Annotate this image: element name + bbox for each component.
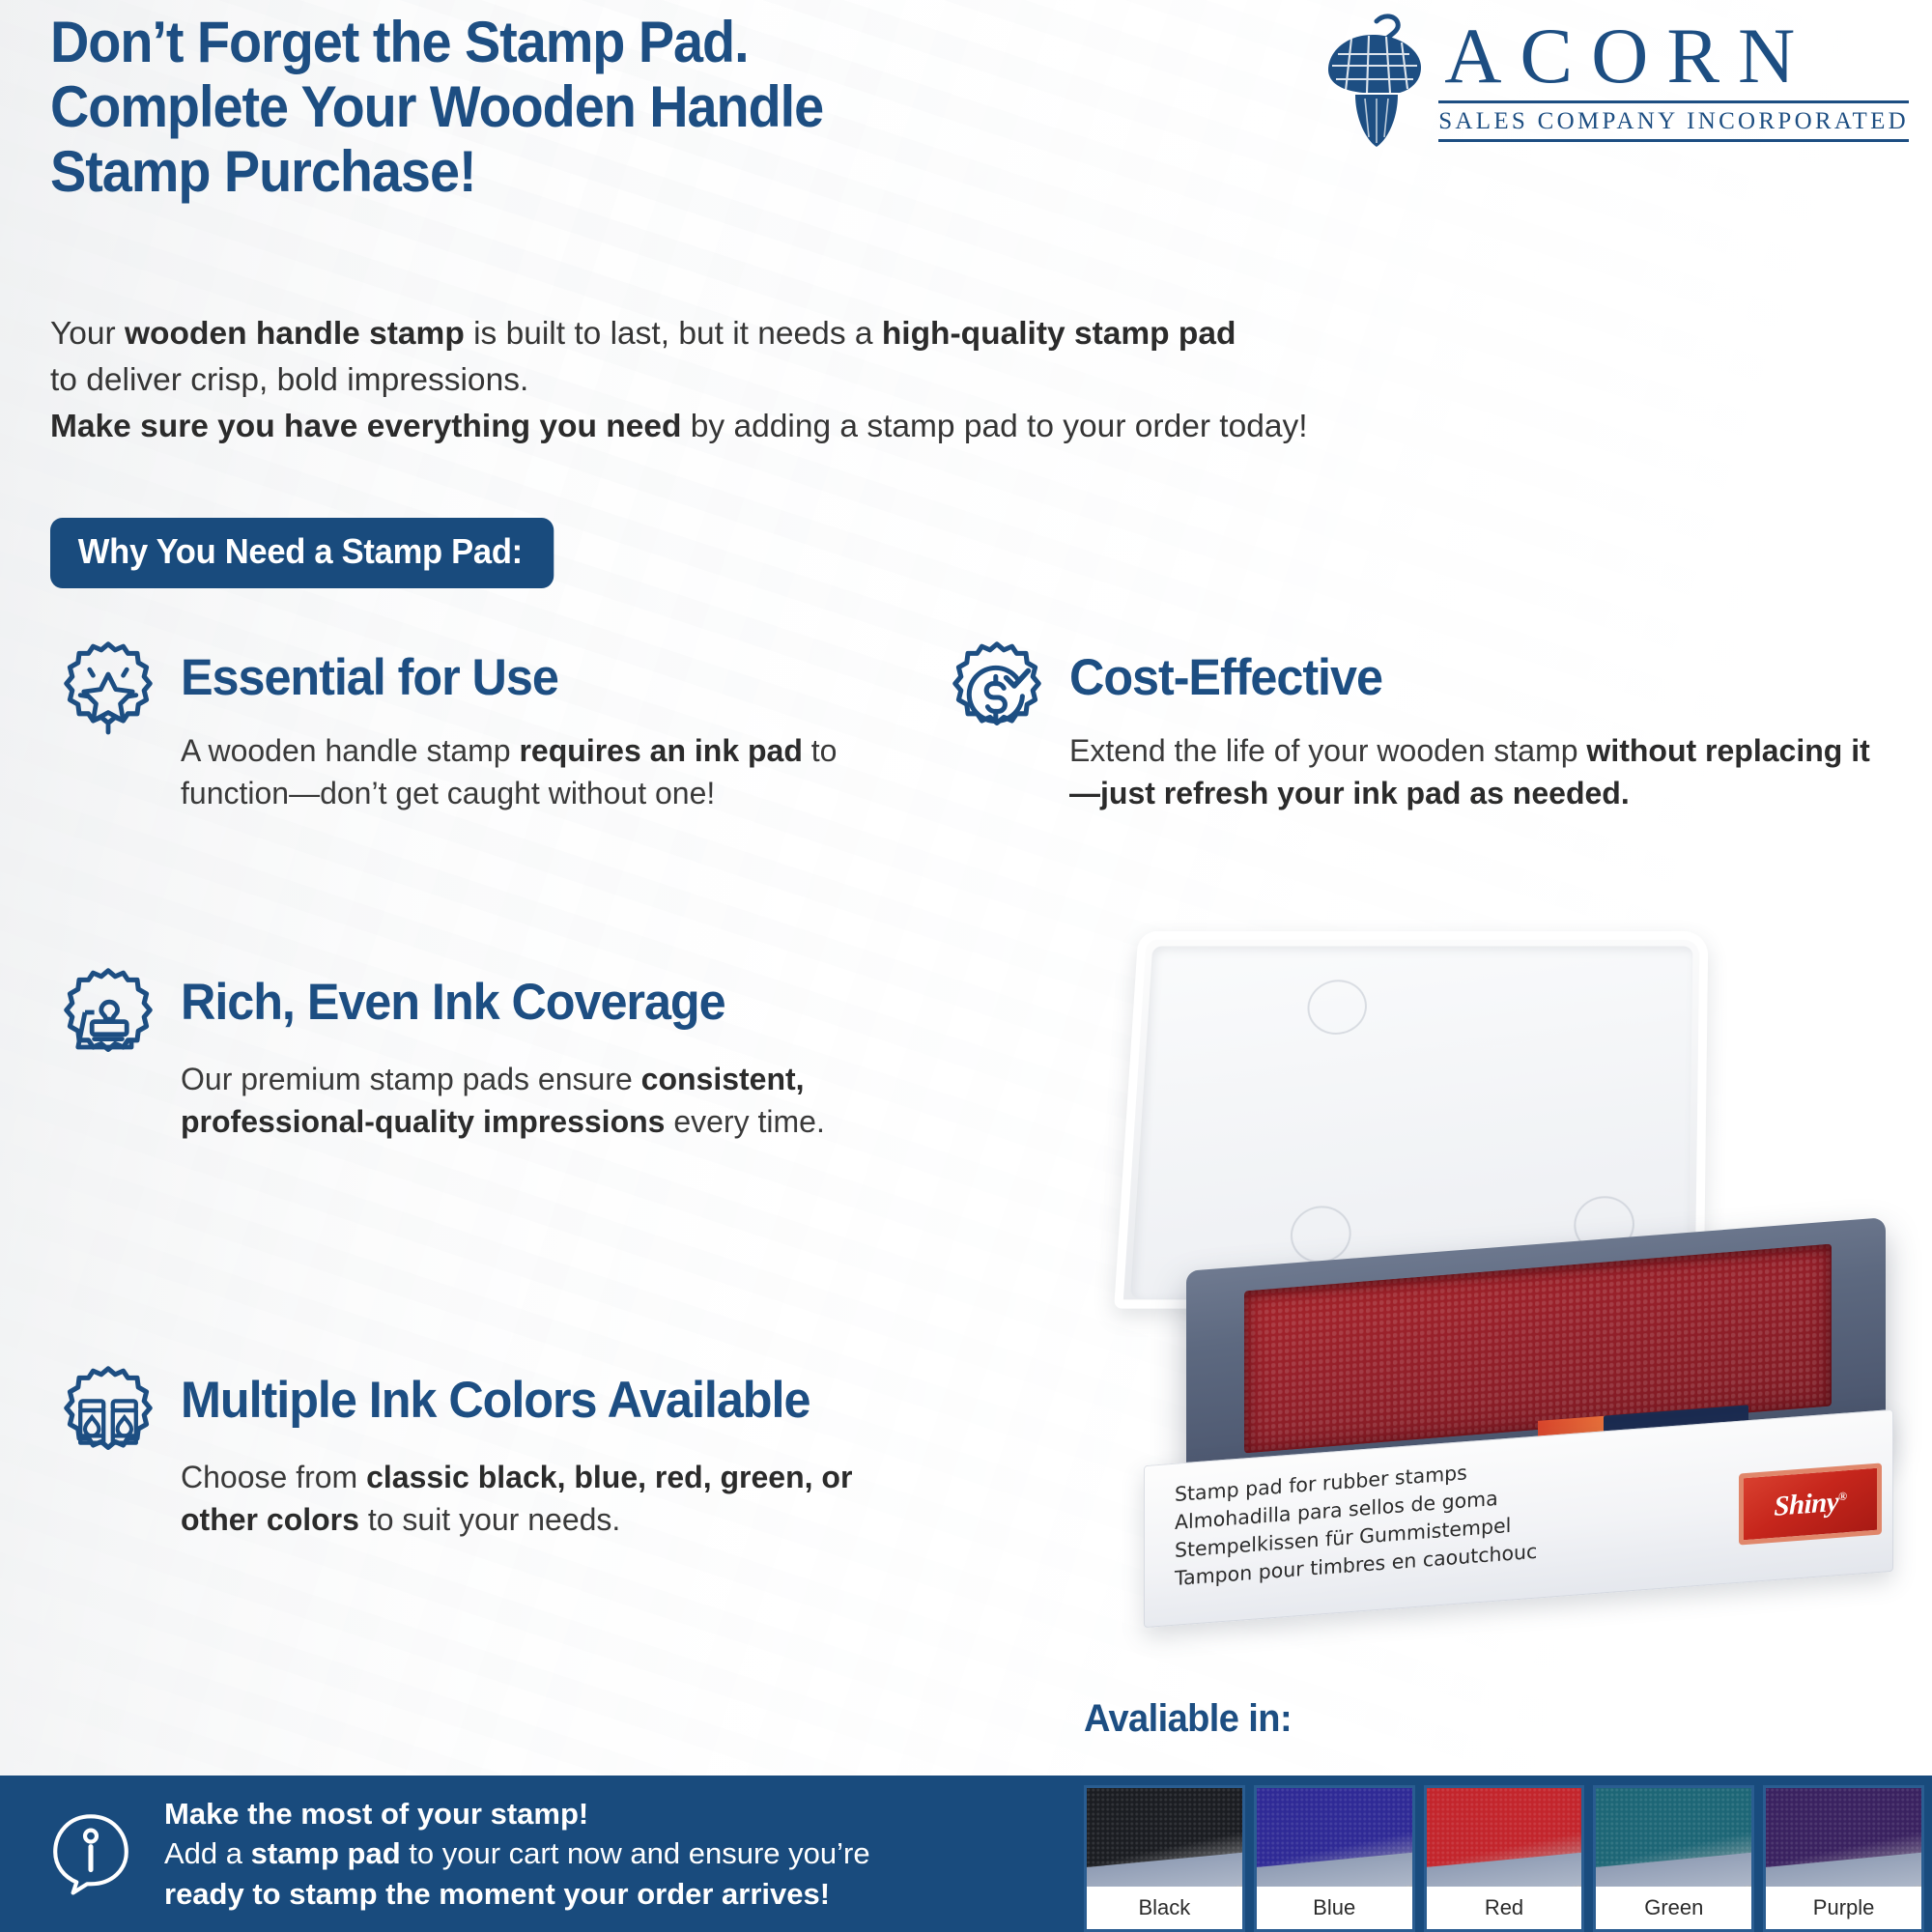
cta-line-3: ready to stamp the moment your order arr…: [164, 1874, 870, 1914]
feature-body: A wooden handle stamp requires an ink pa…: [181, 730, 857, 815]
cta-2c: to your cart now and ensure you’re: [401, 1836, 870, 1870]
swatch-label: Purple: [1766, 1887, 1921, 1929]
lid-dimple: [1306, 980, 1368, 1035]
cta-2a: Add a: [164, 1836, 251, 1870]
intro-1b: wooden handle stamp: [125, 316, 465, 352]
intro-1a: Your: [50, 316, 125, 352]
swatch-label: Green: [1596, 1887, 1751, 1929]
logo-tagline: SALES COMPANY INCORPORATED: [1438, 108, 1909, 135]
swatch-blue[interactable]: Blue: [1254, 1785, 1415, 1932]
dollar-check-badge-icon: [939, 639, 1055, 755]
logo-wordmark: ACORN: [1438, 18, 1909, 95]
rubber-stamp-badge-icon: [50, 966, 166, 1082]
intro-3b: by adding a stamp pad to your order toda…: [681, 409, 1307, 444]
ink-bottles-badge-icon: [50, 1364, 166, 1480]
why-you-need-badge: Why You Need a Stamp Pad:: [50, 518, 554, 588]
feature-body-a: A wooden handle stamp: [181, 733, 519, 768]
cta-bar: Make the most of your stamp! Add a stamp…: [0, 1776, 1076, 1932]
headline-line-2: Complete Your Wooden Handle: [50, 74, 1182, 139]
logo-rule-block: SALES COMPANY INCORPORATED: [1438, 100, 1909, 142]
feature-body-a: Extend the life of your wooden stamp: [1069, 733, 1586, 768]
swatch-label: Blue: [1257, 1887, 1412, 1929]
product-photo-stamp-pad: S-3 Stamp pad for rubber stamps Almohadi…: [1101, 927, 1903, 1604]
acorn-icon: [1317, 12, 1433, 149]
feature-body: Extend the life of your wooden stamp wit…: [1069, 730, 1871, 815]
cta-line-2: Add a stamp pad to your cart now and ens…: [164, 1833, 870, 1873]
feature-body-a: Choose from: [181, 1460, 366, 1494]
feature-body: Choose from classic black, blue, red, gr…: [181, 1457, 857, 1542]
intro-1d: high-quality stamp pad: [882, 316, 1236, 352]
cta-text-block: Make the most of your stamp! Add a stamp…: [164, 1794, 870, 1914]
swatch-red[interactable]: Red: [1424, 1785, 1585, 1932]
feature-body-c: to suit your needs.: [359, 1502, 620, 1537]
acorn-logo[interactable]: ACORN SALES COMPANY INCORPORATED: [1039, 8, 1909, 153]
intro-line-3: Make sure you have everything you need b…: [50, 404, 1422, 450]
available-in-title: Avaliable in:: [1084, 1697, 1292, 1741]
star-badge-icon: [50, 639, 166, 755]
feature-title: Essential for Use: [181, 639, 818, 705]
lid-dimple: [1290, 1206, 1352, 1263]
intro-1c: is built to last, but it needs a: [465, 316, 882, 352]
registered-mark: ®: [1838, 1489, 1846, 1503]
swatch-color-preview: [1087, 1788, 1242, 1887]
intro-paragraph: Your wooden handle stamp is built to las…: [50, 311, 1422, 451]
swatch-color-preview: [1766, 1788, 1921, 1887]
feature-body-a: Our premium stamp pads ensure: [181, 1062, 641, 1096]
feature-title: Multiple Ink Colors Available: [181, 1364, 865, 1428]
feature-body: Our premium stamp pads ensure consistent…: [181, 1059, 838, 1144]
swatch-color-preview: [1257, 1788, 1412, 1887]
swatch-purple[interactable]: Purple: [1763, 1785, 1924, 1932]
feature-body-c: every time.: [665, 1104, 824, 1139]
shiny-brand-logo: Shiny®: [1739, 1463, 1882, 1545]
swatch-label: Red: [1427, 1887, 1582, 1929]
cta-2b: stamp pad: [251, 1836, 401, 1870]
swatch-color-preview: [1427, 1788, 1582, 1887]
feature-title: Rich, Even Ink Coverage: [181, 966, 818, 1030]
intro-3a: Make sure you have everything you need: [50, 409, 681, 444]
headline-line-1: Don’t Forget the Stamp Pad.: [50, 10, 1182, 74]
feature-multiple-ink-colors: Multiple Ink Colors Available Choose fro…: [50, 1364, 900, 1542]
feature-cost-effective: Cost-Effective Extend the life of your w…: [939, 639, 1905, 815]
color-swatch-strip: Black Blue Red Green Purple: [1076, 1776, 1932, 1932]
shiny-brand-name: Shiny: [1774, 1486, 1838, 1521]
intro-line-2: to deliver crisp, bold impressions.: [50, 357, 1422, 404]
swatch-green[interactable]: Green: [1593, 1785, 1754, 1932]
info-bubble-icon: [46, 1809, 135, 1898]
feature-rich-even-ink-coverage: Rich, Even Ink Coverage Our premium stam…: [50, 966, 852, 1144]
feature-body-b: requires an ink pad: [519, 733, 802, 768]
intro-line-1: Your wooden handle stamp is built to las…: [50, 311, 1422, 357]
swatch-color-preview: [1596, 1788, 1751, 1887]
swatch-label: Black: [1087, 1887, 1242, 1929]
cta-line-1: Make the most of your stamp!: [164, 1794, 870, 1833]
feature-title: Cost-Effective: [1069, 639, 1863, 705]
headline-line-3: Stamp Purchase!: [50, 139, 1182, 204]
swatch-black[interactable]: Black: [1084, 1785, 1245, 1932]
feature-essential-for-use: Essential for Use A wooden handle stamp …: [50, 639, 852, 815]
